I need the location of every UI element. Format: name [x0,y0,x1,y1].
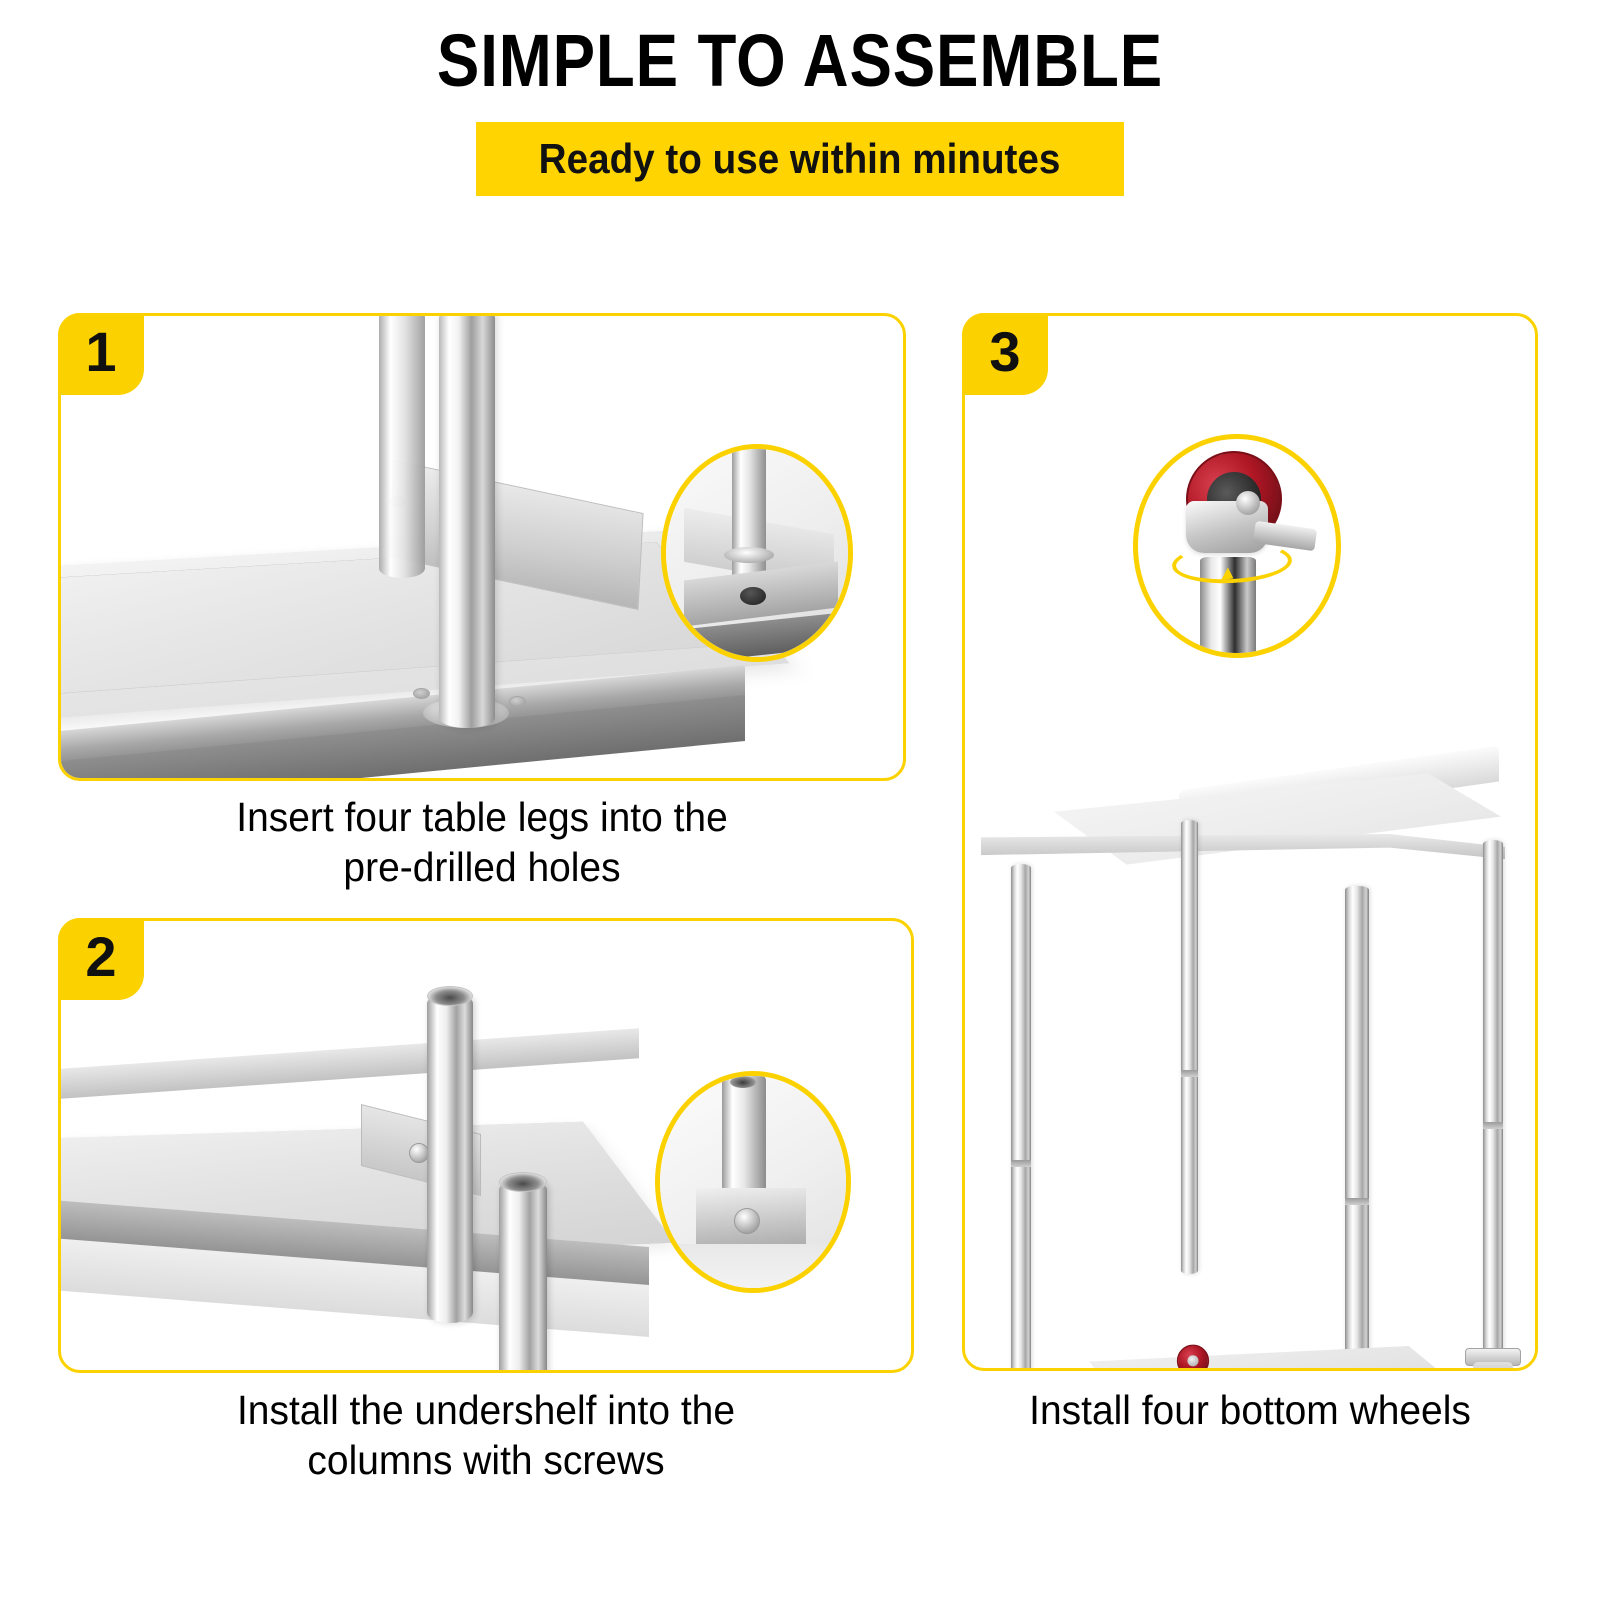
step-2-caption: Install the undershelf into the columns … [79,1385,892,1485]
subtitle-band: Ready to use within minutes [476,122,1124,196]
undershelf-surface [1039,1346,1459,1368]
step-3-panel: VEVOR [962,313,1538,1371]
caster-hub [1187,1355,1198,1366]
inset-hole [740,587,766,605]
shelf-back-lip [61,1028,639,1103]
detail-inset-image [1138,439,1336,653]
step-1-caption-line-1: Insert four table legs into the [79,792,885,842]
inset-column-tube [722,1072,766,1204]
table-leg-front-right [1345,886,1369,1368]
step-3-badge: 3 [962,313,1048,395]
step-3-number: 3 [989,324,1020,380]
step-3-detail-inset [1133,434,1341,658]
step-1-panel: 1 [58,313,906,781]
step-1-caption: Insert four table legs into the pre-dril… [79,792,885,892]
step-2-caption-line-1: Install the undershelf into the [79,1385,892,1435]
leg-joint [1181,1070,1198,1077]
caster-wheel [1177,1345,1209,1368]
tube-opening [427,986,473,1006]
column-tube-front [499,1179,547,1370]
inset-leg-collar [724,547,774,563]
subtitle-text: Ready to use within minutes [539,135,1061,183]
step-3-caption: Install four bottom wheels [965,1385,1535,1435]
inset-screw [734,1208,760,1234]
detail-inset-image [666,449,848,657]
step-2-detail-inset [655,1071,851,1293]
step-1-detail-inset [661,444,853,662]
shelf-screw [409,1143,429,1163]
table-top-edge [981,834,1505,868]
table-leg-rear-right [1483,840,1503,1362]
table-leg-rear-left [1181,820,1198,1274]
detail-inset-image [660,1076,846,1288]
step-2-panel: 2 [58,918,914,1373]
pre-drilled-hole [509,696,526,707]
inset-tube-top-hole [730,1076,756,1088]
pre-drilled-hole [413,688,430,699]
caster-rear-left [1173,1322,1213,1368]
leg-joint [1345,1198,1369,1205]
column-tube-rear [427,993,473,1323]
caster-rear-right [1461,1346,1525,1368]
step-3-photo: VEVOR [965,316,1535,1368]
table-leg-background [379,316,425,578]
caster-fork [1473,1362,1513,1368]
step-3-caption-line-1: Install four bottom wheels [965,1385,1535,1435]
inset-reflection [660,1244,851,1293]
step-1-number: 1 [85,324,116,380]
step-2-number: 2 [85,929,116,985]
tube-opening [499,1172,547,1192]
leg-joint [1011,1160,1031,1167]
header: SIMPLE TO ASSEMBLE Ready to use within m… [0,0,1600,196]
page-title: SIMPLE TO ASSEMBLE [112,22,1488,100]
step-1-caption-line-2: pre-drilled holes [79,842,885,892]
step-2-caption-line-2: columns with screws [79,1435,892,1485]
step-1-badge: 1 [58,313,144,395]
leg-joint [1483,1122,1503,1129]
step-2-badge: 2 [58,918,144,1000]
table-leg-front-left [1011,864,1031,1368]
table-leg-tube [439,316,495,728]
inset-caster-axle [1236,491,1260,515]
